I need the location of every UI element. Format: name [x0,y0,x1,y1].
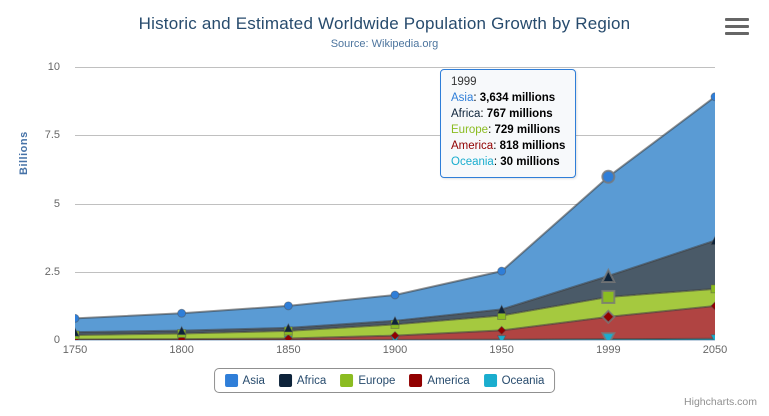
hamburger-menu-icon[interactable] [725,18,749,38]
legend-swatch-icon [484,374,497,387]
marker-europe[interactable] [602,291,614,303]
tooltip-series-value: 818 millions [500,140,566,152]
marker-asia[interactable] [602,171,614,183]
tooltip-rows: Asia: 3,634 millionsAfrica: 767 millions… [451,90,565,170]
y-axis-tick-label: 7.5 [45,129,60,141]
x-axis-tick-label: 1999 [596,344,620,356]
tooltip: 1999 Asia: 3,634 millionsAfrica: 767 mil… [440,69,576,178]
y-axis-title: Billions [18,131,30,175]
tooltip-series-name: Africa [451,108,480,120]
x-axis-tick-label: 1850 [276,344,300,356]
legend-label: Asia [243,375,265,387]
tooltip-row: Europe: 729 millions [451,122,565,138]
legend-label: Oceania [502,375,545,387]
tooltip-row: America: 818 millions [451,138,565,154]
marker-america[interactable] [711,302,715,310]
chart-title: Historic and Estimated Worldwide Populat… [0,14,769,34]
tooltip-row: Oceania: 30 millions [451,154,565,170]
legend-item-asia[interactable]: Asia [225,374,265,387]
legend[interactable]: AsiaAfricaEuropeAmericaOceania [214,368,556,393]
marker-europe[interactable] [711,285,715,293]
marker-oceania[interactable] [602,333,614,340]
tooltip-header: 1999 [451,76,565,88]
legend-item-africa[interactable]: Africa [279,374,326,387]
legend-swatch-icon [340,374,353,387]
marker-asia[interactable] [75,314,79,322]
marker-africa[interactable] [711,237,715,245]
legend-label: Europe [358,375,395,387]
marker-america[interactable] [602,311,614,323]
x-axis-tick-label: 1800 [169,344,193,356]
marker-africa[interactable] [498,305,506,313]
tooltip-series-name: America [451,140,493,152]
tooltip-series-value: 3,634 millions [480,92,555,104]
tooltip-series-value: 729 millions [494,124,560,136]
menu-bar-2 [725,25,749,28]
x-axis-tick-label: 1950 [489,344,513,356]
legend-swatch-icon [409,374,422,387]
chart-subtitle: Source: Wikipedia.org [0,38,769,50]
tooltip-series-name: Europe [451,124,488,136]
tooltip-row: Africa: 767 millions [451,106,565,122]
legend-item-oceania[interactable]: Oceania [484,374,545,387]
marker-layer[interactable] [75,67,715,340]
tooltip-series-name: Asia [451,92,473,104]
x-axis-tick-label: 1750 [63,344,87,356]
marker-asia[interactable] [711,93,715,101]
tooltip-row: Asia: 3,634 millions [451,90,565,106]
y-axis-tick-label: 2.5 [45,266,60,278]
legend-item-america[interactable]: America [409,374,469,387]
marker-america[interactable] [498,326,506,334]
marker-africa[interactable] [602,270,614,282]
x-axis-line [75,340,715,341]
plot-area[interactable] [75,67,715,340]
legend-label: Africa [297,375,326,387]
marker-asia[interactable] [284,302,292,310]
tooltip-series-value: 767 millions [487,108,553,120]
marker-asia[interactable] [178,309,186,317]
y-axis-tick-label: 10 [48,61,60,73]
marker-asia[interactable] [498,267,506,275]
x-axis-labels: 1750180018501900195019992050 [75,344,715,364]
y-axis-labels: 02.557.510 [0,67,68,340]
marker-asia[interactable] [391,291,399,299]
y-axis-tick-label: 5 [54,198,60,210]
menu-bar-1 [725,18,749,21]
legend-label: America [427,375,469,387]
tooltip-series-name: Oceania [451,156,494,168]
highcharts-container: Historic and Estimated Worldwide Populat… [0,0,769,416]
legend-swatch-icon [279,374,292,387]
legend-swatch-icon [225,374,238,387]
menu-bar-3 [725,32,749,35]
x-axis-tick-label: 2050 [703,344,727,356]
legend-item-europe[interactable]: Europe [340,374,395,387]
x-axis-tick-label: 1900 [383,344,407,356]
y-axis-tick-label: 0 [54,334,60,346]
credits-label[interactable]: Highcharts.com [684,396,757,408]
tooltip-series-value: 30 millions [500,156,559,168]
